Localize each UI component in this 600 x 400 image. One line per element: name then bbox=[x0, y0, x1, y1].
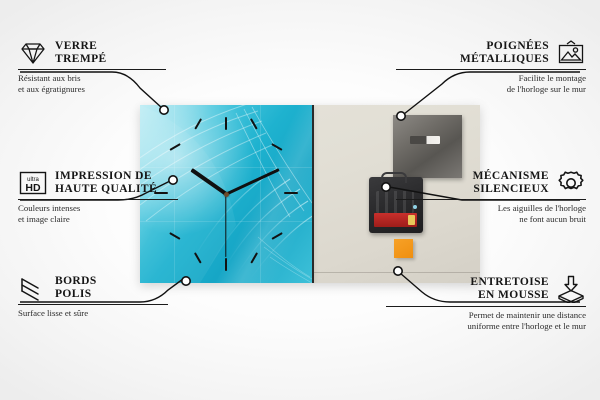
polished-edges-icon bbox=[18, 275, 48, 301]
divider bbox=[18, 304, 168, 305]
feature-subtitle-line1: Facilite le montage bbox=[396, 73, 586, 84]
badge-hd-text: HD bbox=[25, 182, 41, 194]
gear-icon bbox=[556, 170, 586, 196]
feature-title-line2: MÉTALLIQUES bbox=[396, 53, 549, 66]
clock-tick bbox=[284, 192, 298, 194]
feature-header: POIGNÉES MÉTALLIQUES bbox=[396, 40, 586, 66]
picture-hanger-icon bbox=[556, 40, 586, 66]
feature-title-line1: MÉCANISME bbox=[396, 170, 549, 183]
feature-subtitle-line2: et image claire bbox=[18, 214, 178, 225]
divider bbox=[396, 199, 586, 200]
feature-entretoise-en-mousse: ENTRETOISE EN MOUSSE Permet de maintenir… bbox=[386, 275, 586, 331]
feature-title-line1: BORDS bbox=[55, 275, 97, 288]
feature-bords-polis: BORDS POLIS Surface lisse et sûre bbox=[18, 275, 168, 319]
panel-seam bbox=[260, 105, 261, 283]
clock-tick bbox=[225, 258, 227, 271]
feature-header: VERRE TREMPÉ bbox=[18, 40, 166, 66]
panel-seam bbox=[140, 167, 312, 168]
feature-subtitle-line1: Couleurs intenses bbox=[18, 203, 178, 214]
divider bbox=[396, 69, 586, 70]
feature-mecanisme-silencieux: MÉCANISME SILENCIEUX Les aiguilles de l'… bbox=[396, 170, 586, 224]
feature-poignees-metalliques: POIGNÉES MÉTALLIQUES Facilite le montage… bbox=[396, 40, 586, 94]
feature-title-line1: IMPRESSION DE bbox=[55, 170, 157, 183]
feature-header: MÉCANISME SILENCIEUX bbox=[396, 170, 586, 196]
feature-subtitle-line2: ne font aucun bruit bbox=[396, 214, 586, 225]
feature-impression-haute-qualite: ultra HD IMPRESSION DE HAUTE QUALITÉ Cou… bbox=[18, 170, 178, 224]
divider bbox=[18, 69, 166, 70]
feature-title-line2: EN MOUSSE bbox=[386, 289, 549, 302]
feature-subtitle-line1: Surface lisse et sûre bbox=[18, 308, 168, 319]
feature-title-line2: HAUTE QUALITÉ bbox=[55, 183, 157, 196]
divider bbox=[386, 306, 586, 307]
feature-verre-trempe: VERRE TREMPÉ Résistant aux bris et aux é… bbox=[18, 40, 166, 94]
feature-title-line2: TREMPÉ bbox=[55, 53, 107, 66]
feature-subtitle-line1: Les aiguilles de l'horloge bbox=[396, 203, 586, 214]
feature-header: ENTRETOISE EN MOUSSE bbox=[386, 275, 586, 303]
feature-title-line2: POLIS bbox=[55, 288, 97, 301]
feature-title-line2: SILENCIEUX bbox=[396, 183, 549, 196]
feature-subtitle-line2: de l'horloge sur le mur bbox=[396, 84, 586, 95]
feature-title-line1: VERRE bbox=[55, 40, 107, 53]
feature-title-line1: ENTRETOISE bbox=[386, 276, 549, 289]
clock-center-hub bbox=[224, 192, 229, 197]
metal-bracket bbox=[393, 115, 462, 178]
feature-header: ultra HD IMPRESSION DE HAUTE QUALITÉ bbox=[18, 170, 178, 196]
clock-tick bbox=[225, 117, 227, 130]
feature-subtitle-line1: Permet de maintenir une distance bbox=[386, 310, 586, 321]
feature-subtitle-line2: et aux égratignures bbox=[18, 84, 166, 95]
feature-subtitle-line1: Résistant aux bris bbox=[18, 73, 166, 84]
foam-spacer-icon bbox=[556, 275, 586, 303]
feature-title-line1: POIGNÉES bbox=[396, 40, 549, 53]
diamond-icon bbox=[18, 40, 48, 66]
foam-spacer bbox=[394, 239, 413, 258]
ultra-hd-badge-icon: ultra HD bbox=[18, 170, 48, 196]
bracket-slot bbox=[410, 136, 440, 144]
feature-subtitle-line2: uniforme entre l'horloge et le mur bbox=[386, 321, 586, 332]
infographic-canvas: VERRE TREMPÉ Résistant aux bris et aux é… bbox=[0, 0, 600, 400]
divider bbox=[18, 199, 178, 200]
feature-header: BORDS POLIS bbox=[18, 275, 168, 301]
